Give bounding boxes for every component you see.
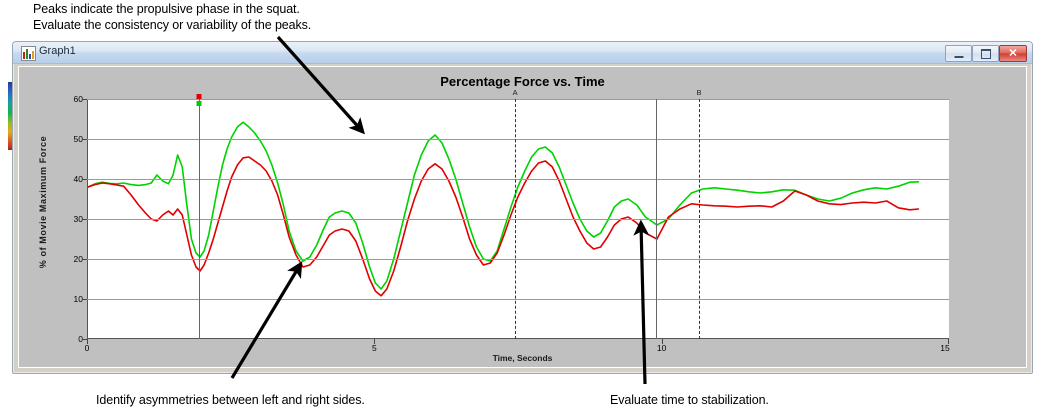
x-axis-tick: 10: [657, 343, 666, 353]
graph-window: Graph1 ✕ Percentage Force vs. Time % of …: [12, 41, 1033, 374]
maximize-icon: [981, 49, 991, 59]
y-axis-tick: 60: [74, 94, 83, 104]
maximize-button[interactable]: [972, 45, 999, 62]
x-axis-tickmark: [87, 339, 88, 344]
window-titlebar[interactable]: Graph1 ✕: [13, 42, 1032, 64]
y-axis-tickmark: [83, 339, 87, 340]
minimize-button[interactable]: [945, 45, 972, 62]
chart-title: Percentage Force vs. Time: [19, 74, 1026, 89]
marker-a-label: A: [513, 88, 518, 97]
series-line-2: [88, 157, 918, 296]
x-axis-tickmark: [374, 339, 375, 344]
x-axis-tickmark: [662, 339, 663, 344]
chart-lines: [88, 99, 950, 339]
y-axis-tick: 30: [74, 214, 83, 224]
plot-area[interactable]: [87, 99, 949, 339]
x-axis-label: Time, Seconds: [19, 353, 1026, 363]
series-line-1: [88, 122, 918, 289]
close-icon: ✕: [1008, 48, 1017, 59]
chart-panel: Percentage Force vs. Time % of Movie Max…: [18, 66, 1027, 368]
x-axis-tick: 5: [372, 343, 377, 353]
x-axis-tick: 15: [940, 343, 949, 353]
annotation-bottom-right: Evaluate time to stabilization.: [610, 393, 769, 407]
window-title: Graph1: [39, 45, 76, 57]
close-button[interactable]: ✕: [999, 45, 1027, 62]
y-axis-tick: 50: [74, 134, 83, 144]
annotation-top: Peaks indicate the propulsive phase in t…: [33, 2, 311, 33]
annotation-top-line1: Peaks indicate the propulsive phase in t…: [33, 2, 311, 18]
x-axis-tickmark: [948, 339, 949, 344]
marker-b-label: B: [697, 88, 702, 97]
minimize-icon: [954, 56, 963, 58]
y-axis-tick: 40: [74, 174, 83, 184]
x-axis-tick: 0: [85, 343, 90, 353]
y-axis-tick: 20: [74, 254, 83, 264]
annotation-top-line2: Evaluate the consistency or variability …: [33, 18, 311, 34]
chart-icon: [21, 46, 36, 61]
y-axis-tick: 10: [74, 294, 83, 304]
y-axis-label: % of Movie Maximum Force: [38, 132, 48, 272]
y-axis-tick: 0: [78, 334, 83, 344]
annotation-bottom-left: Identify asymmetries between left and ri…: [96, 393, 365, 407]
